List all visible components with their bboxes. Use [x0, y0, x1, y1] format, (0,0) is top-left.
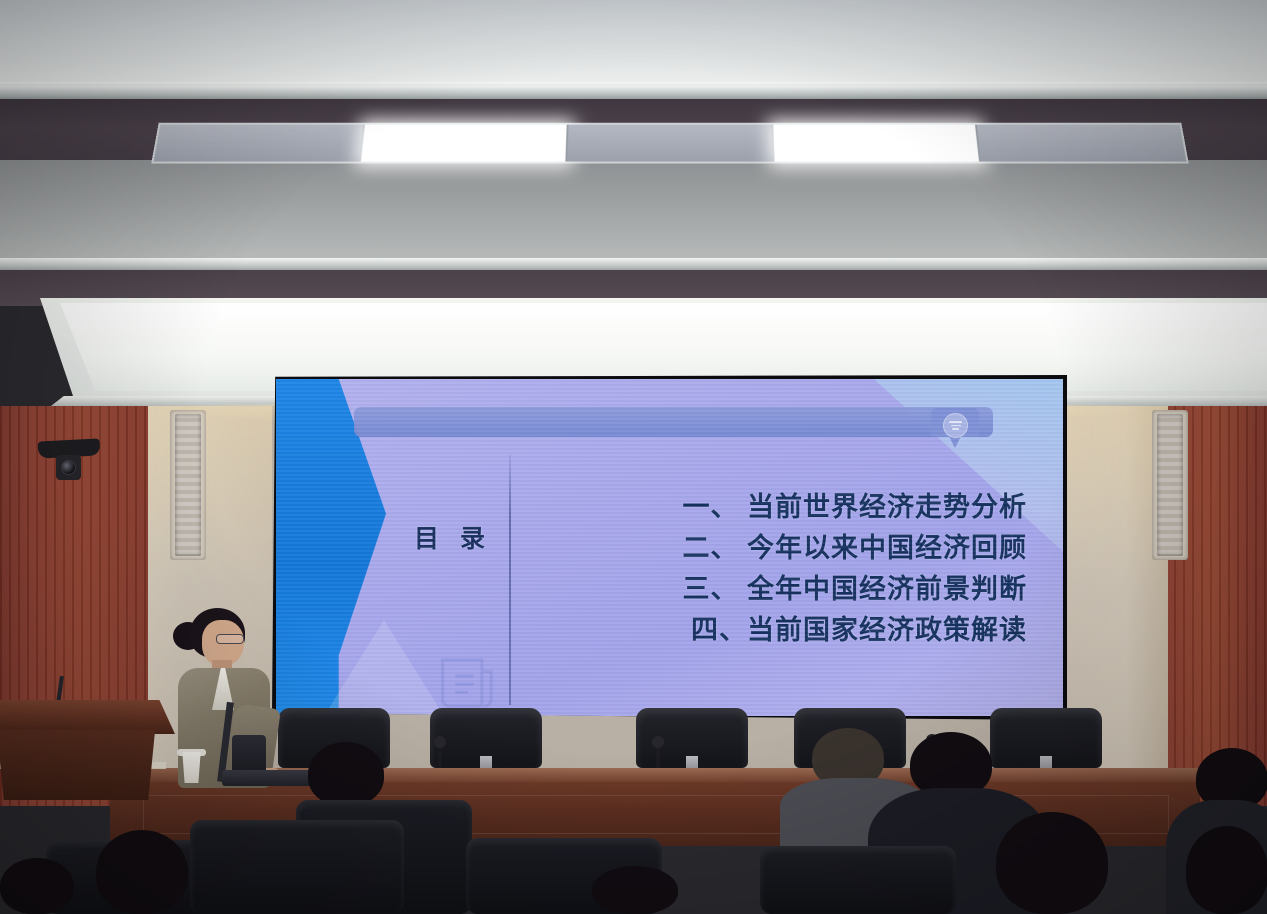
- speaker-left: [170, 410, 206, 560]
- speaker-grille-icon: [175, 414, 201, 556]
- toc-item-4: 四、当前国家经济政策解读: [512, 610, 1047, 651]
- document-scroll-icon: [431, 646, 505, 716]
- audience-head-7: [996, 812, 1108, 914]
- light-panel-1: [154, 125, 365, 162]
- audience-head-8: [1186, 826, 1267, 914]
- audience-head-9: [592, 866, 678, 914]
- toc-item-2: 二、 今年以来中国经济回顾: [512, 528, 1047, 569]
- light-panel-2: [361, 125, 569, 162]
- audience-head-6: [0, 858, 74, 914]
- speaker-right: [1152, 410, 1188, 560]
- slide-header-band: [354, 407, 993, 437]
- slide-toc-heading: 目 录: [403, 519, 503, 555]
- audience-hair: [1186, 826, 1267, 914]
- audience-hair: [592, 866, 678, 914]
- lectern-body[interactable]: [0, 730, 162, 800]
- slide-divider-line: [509, 455, 511, 705]
- audience-hair: [0, 858, 74, 914]
- conference-hall-photo: 目 录 一、 当前世界经济走势分析 二、 今年以来中国经济回顾 三、 全年中国经…: [0, 0, 1267, 914]
- audience-hair: [96, 830, 188, 914]
- audience-chair-5[interactable]: [760, 846, 956, 914]
- ceiling-beam-trim: [0, 86, 1267, 100]
- speaker-grille-icon: [1157, 414, 1183, 556]
- audience-head-5: [96, 830, 188, 914]
- ceiling-light-strip: [151, 123, 1189, 164]
- glasses-icon: [216, 634, 244, 644]
- slide-toc-list: 一、 当前世界经济走势分析 二、 今年以来中国经济回顾 三、 全年中国经济前景判…: [512, 487, 1047, 651]
- layers-icon: [943, 413, 968, 438]
- toc-item-3: 三、 全年中国经济前景判断: [512, 569, 1047, 610]
- light-panel-5: [977, 125, 1186, 162]
- audience-head-1: [308, 742, 384, 806]
- camera-lens-icon: [61, 460, 76, 475]
- ceiling-mid-band: [0, 160, 1267, 265]
- toc-item-1: 一、 当前世界经济走势分析: [512, 487, 1047, 528]
- audience-chair-3[interactable]: [190, 820, 404, 914]
- presentation-slide[interactable]: 目 录 一、 当前世界经济走势分析 二、 今年以来中国经济回顾 三、 全年中国经…: [276, 379, 1063, 716]
- lectern-top[interactable]: [0, 700, 175, 734]
- light-panel-4: [773, 125, 981, 162]
- projection-screen[interactable]: 目 录 一、 当前世界经济走势分析 二、 今年以来中国经济回顾 三、 全年中国经…: [272, 375, 1067, 720]
- audience-hair: [996, 812, 1108, 914]
- ceiling-upper-band: [0, 0, 1267, 92]
- audience-hair: [308, 742, 384, 806]
- light-panel-3: [568, 125, 775, 162]
